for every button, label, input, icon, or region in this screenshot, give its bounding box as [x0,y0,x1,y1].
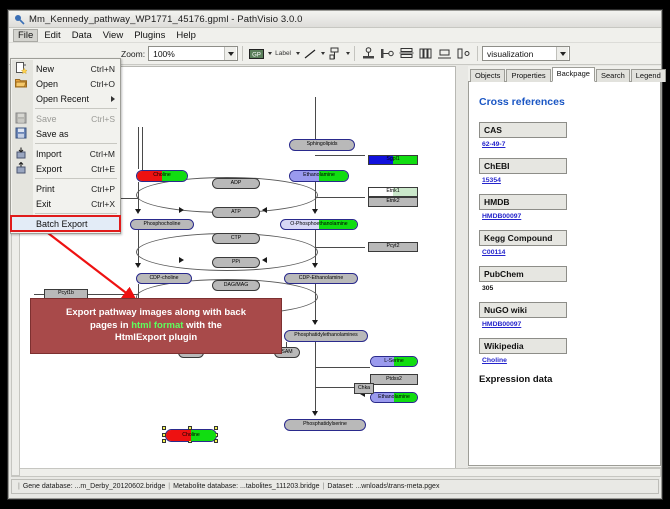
receptor-dropdown-icon[interactable] [346,52,350,55]
callout-line-2-post: with the [183,320,222,331]
file-menu-item-save-as[interactable]: Save as [11,126,120,141]
menu-separator [35,108,117,109]
label-dropdown-icon[interactable] [296,52,300,55]
xref-header: ChEBI [479,158,567,174]
receptor-tool-button[interactable] [326,45,343,62]
file-menu-item-export[interactable]: ExportCtrl+E [11,161,120,176]
xref-link[interactable]: Choline [482,357,650,364]
xref-header: NuGO wiki [479,302,567,318]
stack-center-button[interactable] [398,45,415,62]
callout-line-3: HtmlExport plugin [66,332,246,345]
expression-data-title: Expression data [479,374,650,385]
tab-objects[interactable]: Objects [470,69,505,82]
file-menu-item-accelerator: Ctrl+N [91,64,115,74]
file-menu-item-exit[interactable]: ExitCtrl+X [11,196,120,211]
side-panel-tabs[interactable]: ObjectsPropertiesBackpageSearchLegend [468,66,661,82]
xref-header: Wikipedia [479,338,567,354]
tab-backpage[interactable]: Backpage [552,67,595,82]
menu-edit[interactable]: Edit [39,29,65,42]
file-menu-item-accelerator: Ctrl+E [91,164,115,174]
align-top-button[interactable] [360,45,377,62]
stack-vertical-button[interactable] [417,45,434,62]
file-menu-item-label: Save as [36,129,69,139]
toolbar-separator-3 [477,46,478,61]
status-gene-database: Gene database: ...m_Derby_20120602.bridg… [23,483,165,490]
file-menu-item-label: Save [36,114,57,124]
submenu-arrow-icon [111,96,115,102]
tab-search[interactable]: Search [596,69,630,82]
menu-view[interactable]: View [98,29,128,42]
datanode-dropdown-icon[interactable] [268,52,272,55]
import-icon [15,147,28,160]
file-menu-item-batch-export[interactable]: Batch Export [11,216,120,231]
menu-help[interactable]: Help [171,29,201,42]
save-as-icon [15,127,28,140]
xref-value: 305 [482,285,650,292]
svg-text:GP: GP [252,52,261,58]
file-menu-item-accelerator: Ctrl+X [91,199,115,209]
status-dataset: Dataset: ...wnloads\trans-meta.pgex [327,483,439,490]
file-menu-item-accelerator: Ctrl+M [90,149,115,159]
visualization-value: visualization [487,49,533,59]
annotation-callout: Export pathway images along with back pa… [30,298,282,354]
menu-separator [35,143,117,144]
file-dropdown-menu[interactable]: NewCtrl+NOpenCtrl+OOpen RecentSaveCtrl+S… [10,58,121,234]
menu-file[interactable]: File [13,29,38,42]
file-menu-item-accelerator: Ctrl+P [91,184,115,194]
menu-separator [35,178,117,179]
xref-link[interactable]: C00114 [482,249,650,256]
xref-header: PubChem [479,266,567,282]
callout-line-2-highlight: html format [131,320,183,331]
file-menu-item-label: Import [36,149,62,159]
screenshot-root: Mm_Kennedy_pathway_WP1771_45176.gpml - P… [0,0,670,509]
file-menu-item-label: Print [36,184,55,194]
cross-references-title: Cross references [479,96,650,108]
file-menu-item-label: Export [36,164,62,174]
zoom-label: Zoom: [121,49,145,59]
zoom-combobox[interactable]: 100% [148,46,238,61]
file-menu-item-accelerator: Ctrl+S [91,114,115,124]
zoom-value: 100% [153,49,175,59]
toolbar-separator-2 [354,46,355,61]
save-icon [15,112,28,125]
toolbar-separator [242,46,243,61]
export-icon [15,162,28,175]
file-menu-item-new[interactable]: NewCtrl+N [11,61,120,76]
label-tool-button[interactable]: Label [273,45,293,62]
xref-link[interactable]: HMDB00097 [482,213,650,220]
file-menu-item-open[interactable]: OpenCtrl+O [11,76,120,91]
line-dropdown-icon[interactable] [321,52,325,55]
xref-header: Kegg Compound [479,230,567,246]
tab-properties[interactable]: Properties [506,69,550,82]
status-bar: | Gene database: ...m_Derby_20120602.bri… [11,479,659,494]
menu-plugins[interactable]: Plugins [129,29,170,42]
cross-reference-list: CAS62-49-7ChEBI15354HMDBHMDB00097Kegg Co… [479,122,650,364]
pathvisio-window: Mm_Kennedy_pathway_WP1771_45176.gpml - P… [8,10,662,499]
chevron-down-icon-2[interactable] [556,47,568,60]
window-title: Mm_Kennedy_pathway_WP1771_45176.gpml - P… [29,14,303,25]
xref-header: HMDB [479,194,567,210]
file-menu-item-open-recent[interactable]: Open Recent [11,91,120,106]
datanode-tool-button[interactable]: GP [248,45,265,62]
xref-header: CAS [479,122,567,138]
status-metabolite-database: Metabolite database: ...tabolites_111203… [173,483,319,490]
file-menu-item-save[interactable]: SaveCtrl+S [11,111,120,126]
callout-line-1: Export pathway images along with back [66,307,246,320]
common-width-button[interactable] [436,45,453,62]
menu-separator [35,213,117,214]
file-menu-item-label: Open Recent [36,94,89,104]
file-menu-item-label: New [36,64,54,74]
file-menu-item-label: Exit [36,199,51,209]
new-document-icon [15,62,28,75]
common-height-button[interactable] [455,45,472,62]
side-panel[interactable]: ObjectsPropertiesBackpageSearchLegend Cr… [468,66,661,476]
xref-link[interactable]: 62-49-7 [482,141,650,148]
chevron-down-icon[interactable] [224,47,236,60]
file-menu-item-label: Batch Export [36,219,88,229]
tab-legend[interactable]: Legend [631,69,666,82]
file-menu-item-accelerator: Ctrl+O [90,79,115,89]
xref-link[interactable]: 15354 [482,177,650,184]
visualization-combobox[interactable]: visualization [482,46,570,61]
align-left-button[interactable] [379,45,396,62]
title-bar: Mm_Kennedy_pathway_WP1771_45176.gpml - P… [9,11,661,28]
file-menu-item-print[interactable]: PrintCtrl+P [11,181,120,196]
open-folder-icon [15,77,28,90]
label-tool-text: Label [273,50,293,57]
line-tool-button[interactable] [301,45,318,62]
file-menu-item-import[interactable]: ImportCtrl+M [11,146,120,161]
file-menu-item-label: Open [36,79,58,89]
callout-line-2-pre: pages in [90,320,131,331]
menu-data[interactable]: Data [67,29,97,42]
pathvisio-icon [14,14,25,25]
xref-link[interactable]: HMDB00097 [482,321,650,328]
menu-bar[interactable]: File Edit Data View Plugins Help [9,28,661,43]
backpage-tab-content: Cross references CAS62-49-7ChEBI15354HMD… [468,82,661,466]
